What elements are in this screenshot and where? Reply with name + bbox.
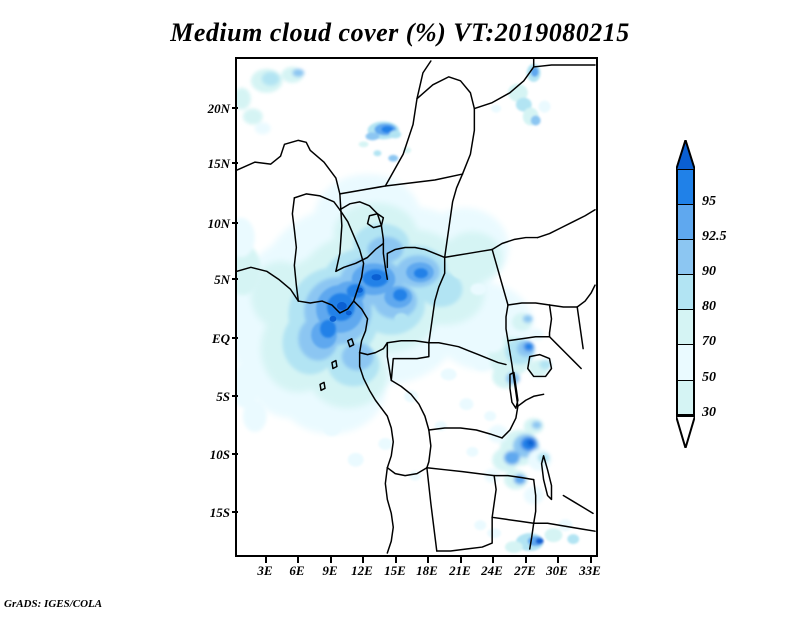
colorbar-segment-90 xyxy=(676,240,695,275)
y-axis-tick xyxy=(232,453,238,455)
y-axis-label-10n: 10N xyxy=(186,216,230,232)
y-axis-label-5s: 5S xyxy=(186,389,230,405)
x-axis-label-33e: 33E xyxy=(567,563,613,579)
y-axis-tick xyxy=(232,337,238,339)
map-canvas xyxy=(237,59,596,555)
colorbar-label-90: 90 xyxy=(702,264,716,280)
colorbar-segment-92p5 xyxy=(676,205,695,240)
page-title: Medium cloud cover (%) VT:2019080215 xyxy=(0,18,800,48)
colorbar[interactable] xyxy=(676,170,695,416)
colorbar-label-50: 50 xyxy=(702,370,716,386)
colorbar-label-70: 70 xyxy=(702,334,716,350)
y-axis-label-15s: 15S xyxy=(186,505,230,521)
colorbar-label-30: 30 xyxy=(702,405,716,421)
colorbar-label-92p5: 92.5 xyxy=(702,229,727,245)
colorbar-bottom-cap xyxy=(676,416,695,448)
map-plot-area[interactable] xyxy=(235,57,598,557)
y-axis-tick xyxy=(232,511,238,513)
colorbar-segment-50 xyxy=(676,345,695,381)
colorbar-segment-70 xyxy=(676,310,695,345)
colorbar-top-cap xyxy=(676,140,695,170)
y-axis-label-20n: 20N xyxy=(186,101,230,117)
y-axis-tick xyxy=(232,162,238,164)
colorbar-segment-80 xyxy=(676,275,695,310)
colorbar-label-95: 95 xyxy=(702,194,716,210)
y-axis-tick xyxy=(232,222,238,224)
y-axis-label-10s: 10S xyxy=(186,447,230,463)
y-axis-tick xyxy=(232,278,238,280)
colorbar-segment-30 xyxy=(676,381,695,416)
colorbar-segment-95 xyxy=(676,170,695,205)
y-axis-label-5n: 5N xyxy=(186,272,230,288)
credit-text: GrADS: IGES/COLA xyxy=(4,598,102,610)
colorbar-label-80: 80 xyxy=(702,299,716,315)
y-axis-tick xyxy=(232,107,238,109)
y-axis-tick xyxy=(232,395,238,397)
y-axis-label-eq: EQ xyxy=(186,331,230,347)
y-axis-label-15n: 15N xyxy=(186,156,230,172)
figure-canvas: Medium cloud cover (%) VT:2019080215 xyxy=(0,0,800,618)
